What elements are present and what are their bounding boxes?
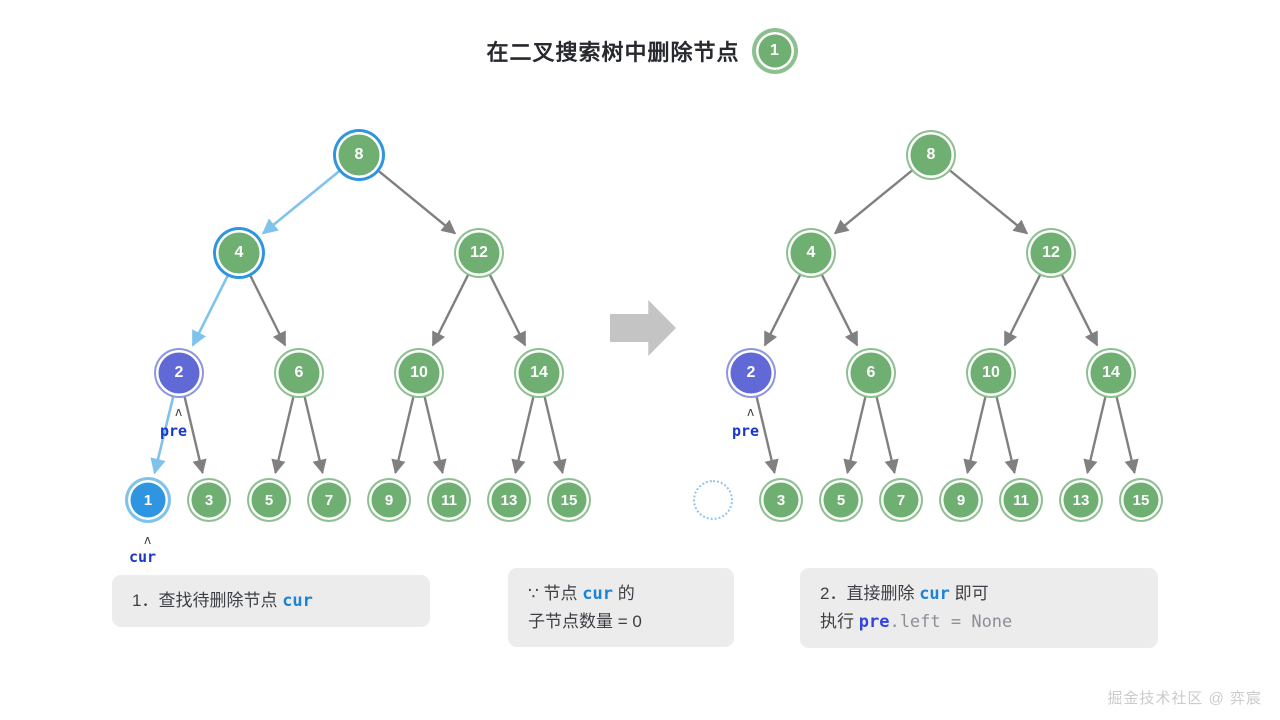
left-node-4: 4 (216, 230, 262, 276)
transition-arrow-icon (610, 300, 676, 356)
caption-step1-text: 1．查找待删除节点 (132, 591, 282, 610)
tree-edge (1005, 275, 1040, 345)
left-node-9: 9 (369, 480, 409, 520)
right-node-12: 12 (1028, 230, 1074, 276)
pointer-caret-icon: ʌ (747, 406, 754, 418)
right-node-7: 7 (881, 480, 921, 520)
title-badge: 1 (756, 32, 794, 70)
left-tree-edges (155, 170, 563, 472)
pointer-caret-icon: ʌ (144, 534, 151, 546)
left-node-8: 8 (336, 132, 382, 178)
caption-step1: 1．查找待删除节点 cur (112, 575, 430, 627)
caption-reason: ∵ 节点 cur 的 子节点数量 = 0 (508, 568, 734, 647)
left-node-12: 12 (456, 230, 502, 276)
tree-edge (275, 397, 293, 473)
watermark: 掘金技术社区 @ 弈宸 (1107, 687, 1262, 708)
caption-step2-line2-prefix: 执行 (820, 612, 859, 631)
tree-edge (545, 397, 563, 473)
tree-edge (378, 170, 455, 233)
tree-edge (395, 397, 413, 473)
caption-step2-line1-code: cur (919, 584, 950, 604)
left-node-1: 1 (128, 480, 168, 520)
tree-edge (185, 397, 203, 473)
tree-edge (757, 397, 775, 473)
right-node-4: 4 (788, 230, 834, 276)
tree-edge (490, 275, 525, 345)
tree-edge (250, 275, 285, 345)
left-node-7: 7 (309, 480, 349, 520)
pointer-caret-icon: ʌ (175, 406, 182, 418)
tree-edge (1062, 275, 1097, 345)
tree-edge (1087, 397, 1105, 473)
left-node-5: 5 (249, 480, 289, 520)
tree-edge (877, 397, 895, 473)
left-node-13: 13 (489, 480, 529, 520)
tree-edge (950, 170, 1027, 233)
title-text: 在二叉搜索树中删除节点 (486, 35, 739, 67)
right-node-6: 6 (848, 350, 894, 396)
tree-edge (193, 275, 228, 345)
left-node-6: 6 (276, 350, 322, 396)
tree-edge (847, 397, 865, 473)
caption-reason-line1-suffix: 的 (613, 584, 635, 603)
left-pointer-pre: pre (160, 422, 187, 440)
left-node-14: 14 (516, 350, 562, 396)
tree-edge (425, 397, 443, 473)
right-node-8: 8 (908, 132, 954, 178)
page-title: 在二叉搜索树中删除节点 1 (0, 32, 1280, 70)
tree-edge (835, 170, 912, 233)
left-node-10: 10 (396, 350, 442, 396)
caption-step2-line2-code: pre (859, 612, 890, 632)
right-node-3: 3 (761, 480, 801, 520)
tree-edge (263, 170, 340, 233)
tree-edge (967, 397, 985, 473)
right-node-13: 13 (1061, 480, 1101, 520)
right-node-9: 9 (941, 480, 981, 520)
left-node-11: 11 (429, 480, 469, 520)
tree-edge (822, 275, 857, 345)
right-node-10: 10 (968, 350, 1014, 396)
right-node-5: 5 (821, 480, 861, 520)
left-pointer-cur: cur (129, 548, 156, 566)
right-node-15: 15 (1121, 480, 1161, 520)
caption-reason-line1-prefix: ∵ 节点 (528, 584, 582, 603)
caption-step2-line1-suffix: 即可 (950, 584, 989, 603)
tree-edge (765, 275, 800, 345)
left-node-3: 3 (189, 480, 229, 520)
tree-edge (997, 397, 1015, 473)
tree-edge (433, 275, 468, 345)
left-node-15: 15 (549, 480, 589, 520)
tree-edge (1117, 397, 1135, 473)
right-node-14: 14 (1088, 350, 1134, 396)
tree-edge (305, 397, 323, 473)
caption-reason-line1-code: cur (582, 584, 613, 604)
caption-step2-line2-suffix: .left = None (889, 612, 1012, 632)
deleted-node-placeholder (693, 480, 733, 520)
right-pointer-pre: pre (732, 422, 759, 440)
tree-edge (515, 397, 533, 473)
caption-step2-line1-prefix: 2．直接删除 (820, 584, 919, 603)
right-node-11: 11 (1001, 480, 1041, 520)
left-node-2: 2 (156, 350, 202, 396)
caption-step2: 2．直接删除 cur 即可 执行 pre.left = None (800, 568, 1158, 648)
caption-reason-line2: 子节点数量 = 0 (528, 612, 642, 631)
caption-step1-code: cur (282, 591, 313, 611)
right-tree-edges (757, 170, 1135, 472)
diagram-canvas: 在二叉搜索树中删除节点 1 841226101413579111315 8412… (0, 0, 1280, 720)
right-node-2: 2 (728, 350, 774, 396)
transition-arrow-shape (610, 300, 676, 356)
